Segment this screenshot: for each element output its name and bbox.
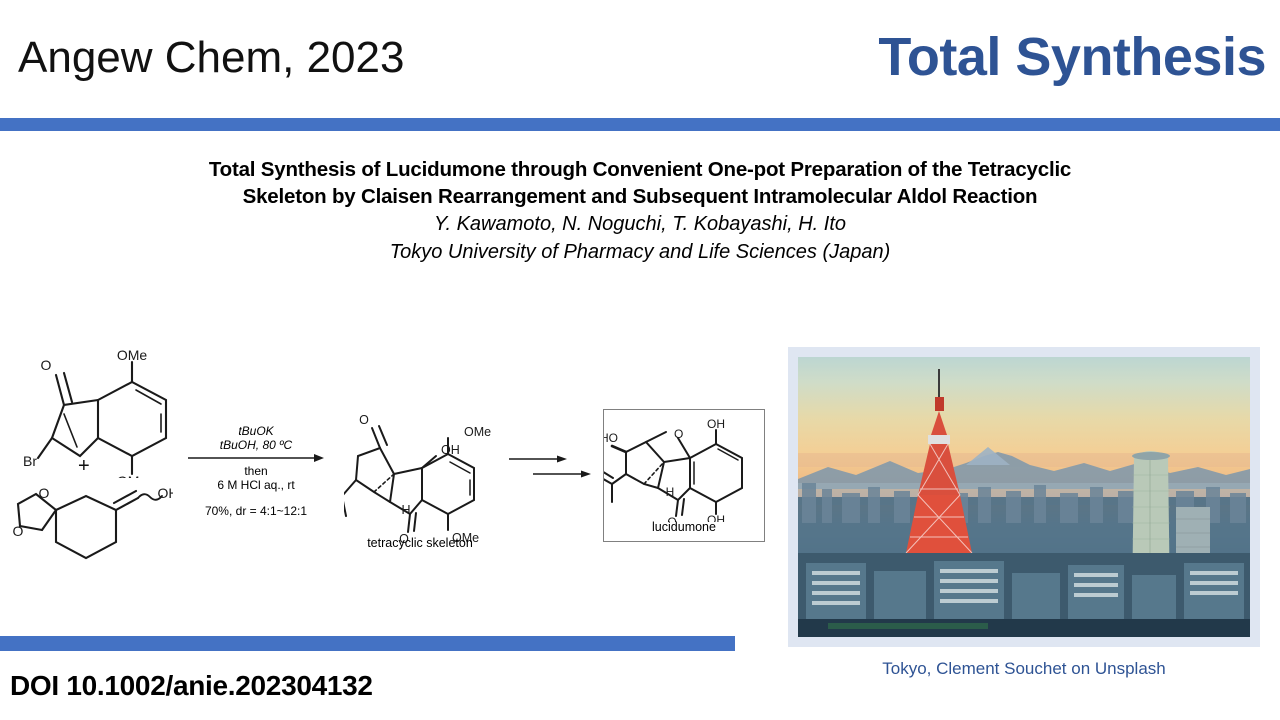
atom-label-OH: OH <box>441 443 460 457</box>
conditions-below-line-1: then <box>186 464 326 478</box>
atom-label-O: O <box>41 357 52 373</box>
paper-title-line-1: Total Synthesis of Lucidumone through Co… <box>0 156 1280 183</box>
paper-title-line-2: Skeleton by Claisen Rearrangement and Su… <box>0 183 1280 210</box>
reagent-1-structure: O OMe OMe Br <box>20 348 200 478</box>
product-structure: HO O OH O H O OH <box>604 414 762 522</box>
doi-text: DOI 10.1002/anie.202304132 <box>10 670 373 702</box>
reaction-conditions: tBuOK tBuOH, 80 ºC then 6 M HCl aq., rt … <box>186 424 326 518</box>
header-divider-bar <box>0 118 1280 131</box>
reagent-2-structure: O O OH <box>8 478 173 573</box>
atom-label-O-bridge: O <box>674 427 683 441</box>
product-box: HO O OH O H O OH lucidumone <box>603 409 765 542</box>
paper-title-block: Total Synthesis of Lucidumone through Co… <box>0 156 1280 266</box>
journal-citation: Angew Chem, 2023 <box>18 33 404 83</box>
intermediate-structure: O OH OMe H O OMe <box>344 410 504 545</box>
photo-frame <box>788 347 1260 647</box>
slide-heading: Total Synthesis <box>878 26 1266 88</box>
intermediate-caption: tetracyclic skeleton <box>345 536 495 550</box>
atom-label-Br: Br <box>23 453 37 469</box>
conditions-below-line-2: 6 M HCl aq., rt <box>186 478 326 492</box>
atom-label-OH: OH <box>158 485 174 501</box>
atom-label-O-dioxolane-1: O <box>39 485 50 501</box>
photo-caption: Tokyo, Clement Souchet on Unsplash <box>788 659 1260 679</box>
atom-label-O-dioxolane-2: O <box>13 523 24 539</box>
atom-label-OMe-top: OMe <box>117 348 148 363</box>
paper-affiliation: Tokyo University of Pharmacy and Life Sc… <box>0 238 1280 266</box>
product-caption: lucidumone <box>604 520 764 534</box>
atom-label-O-ketone-top: O <box>359 413 369 427</box>
atom-label-H: H <box>401 503 410 517</box>
conditions-yield: 70%, dr = 4:1~12:1 <box>186 504 326 518</box>
atom-label-HO: HO <box>604 431 618 445</box>
reaction-arrow <box>186 452 326 464</box>
atom-label-H: H <box>666 485 675 499</box>
plus-sign: + <box>78 455 90 478</box>
paper-authors: Y. Kawamoto, N. Noguchi, T. Kobayashi, H… <box>0 210 1280 238</box>
atom-label-OH-top: OH <box>707 417 725 431</box>
conditions-above-line-2: tBuOH, 80 ºC <box>186 438 326 452</box>
atom-label-OMe-top: OMe <box>464 425 491 439</box>
conditions-above-line-1: tBuOK <box>186 424 326 438</box>
footer-divider-bar <box>0 636 735 651</box>
slide-header: Angew Chem, 2023 Total Synthesis <box>0 0 1280 118</box>
tokyo-skyline-photo <box>798 357 1250 637</box>
multi-step-arrow <box>505 450 615 494</box>
